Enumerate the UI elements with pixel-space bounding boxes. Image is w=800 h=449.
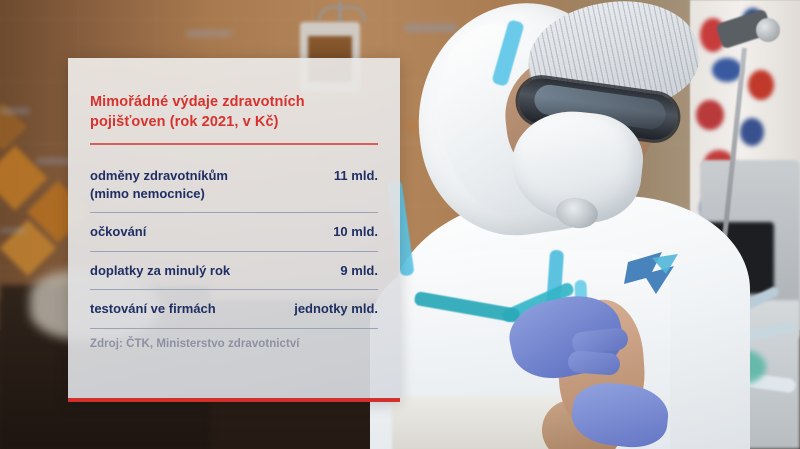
card-title-line-1: Mimořádné výdaje zdravotních (90, 92, 378, 112)
suit-logo-icon (622, 250, 692, 300)
iv-pole-hook (318, 6, 366, 22)
wall-marking (0, 228, 26, 233)
row-value: 11 mld. (322, 167, 378, 185)
table-row: testování ve firmách jednotky mld. (90, 300, 378, 328)
expense-rows: odměny zdravotníkům (mimo nemocnice) 11 … (90, 167, 378, 329)
row-label: odměny zdravotníkům (mimo nemocnice) (90, 167, 228, 204)
glove-finger (567, 350, 620, 376)
row-label: testování ve firmách (90, 300, 216, 318)
infographic-card: Mimořádné výdaje zdravotních pojišťoven … (68, 58, 400, 402)
row-label: očkování (90, 223, 146, 241)
wall-marking (186, 30, 232, 37)
card-title: Mimořádné výdaje zdravotních pojišťoven … (90, 92, 378, 132)
row-label: doplatky za minulý rok (90, 262, 230, 280)
source-attribution: Zdroj: ČTK, Ministerstvo zdravotnictví (90, 338, 378, 350)
table-row: doplatky za minulý rok 9 mld. (90, 262, 378, 290)
table-row: očkování 10 mld. (90, 223, 378, 251)
row-value: 10 mld. (321, 223, 378, 241)
card-title-line-2: pojišťoven (rok 2021, v Kč) (90, 112, 378, 132)
table-row: odměny zdravotníkům (mimo nemocnice) 11 … (90, 167, 378, 214)
row-value: jednotky mld. (282, 300, 378, 318)
wall-marking (36, 158, 72, 164)
title-divider (90, 143, 378, 145)
row-value: 9 mld. (328, 262, 378, 280)
healthcare-worker (400, 0, 800, 449)
wall-marking (0, 108, 30, 114)
